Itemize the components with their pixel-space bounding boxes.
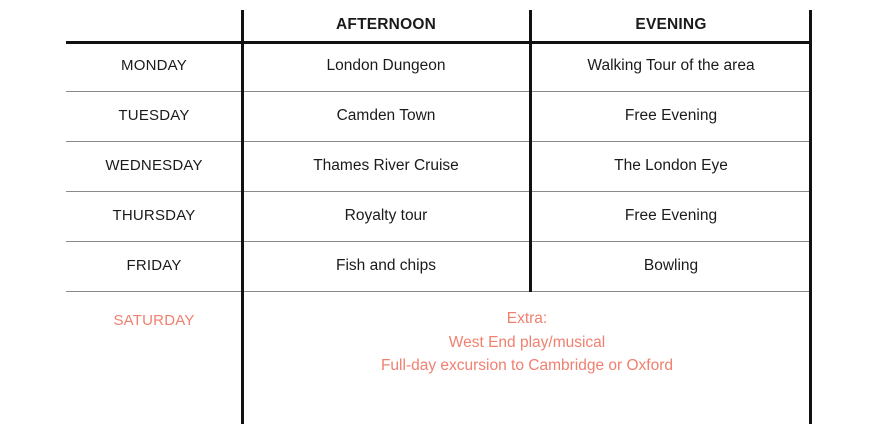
- cell-thursday-evening: Free Evening: [530, 191, 812, 241]
- cell-saturday-extras: Extra: West End play/musical Full-day ex…: [242, 291, 812, 391]
- header-afternoon: AFTERNOON: [242, 10, 530, 41]
- cell-friday-afternoon: Fish and chips: [242, 241, 530, 291]
- cell-thursday-afternoon: Royalty tour: [242, 191, 530, 241]
- saturday-extras-line-3: Full-day excursion to Cambridge or Oxfor…: [381, 354, 673, 378]
- cell-monday-evening: Walking Tour of the area: [530, 41, 812, 91]
- saturday-extras-line-1: Extra:: [381, 307, 673, 331]
- cell-tuesday-afternoon: Camden Town: [242, 91, 530, 141]
- row-label-friday: FRIDAY: [66, 241, 242, 291]
- cell-tuesday-evening: Free Evening: [530, 91, 812, 141]
- saturday-extras-text: Extra: West End play/musical Full-day ex…: [381, 307, 673, 378]
- weekly-schedule-table: AFTERNOON EVENING MONDAY London Dungeon …: [66, 10, 812, 424]
- cell-wednesday-evening: The London Eye: [530, 141, 812, 191]
- cell-wednesday-afternoon: Thames River Cruise: [242, 141, 530, 191]
- header-evening: EVENING: [530, 10, 812, 41]
- row-label-tuesday: TUESDAY: [66, 91, 242, 141]
- row-label-thursday: THURSDAY: [66, 191, 242, 241]
- schedule-table-canvas: AFTERNOON EVENING MONDAY London Dungeon …: [0, 0, 877, 424]
- row-label-monday: MONDAY: [66, 41, 242, 91]
- row-label-saturday: SATURDAY: [66, 291, 242, 351]
- cell-friday-evening: Bowling: [530, 241, 812, 291]
- saturday-extras-line-2: West End play/musical: [381, 331, 673, 355]
- row-label-wednesday: WEDNESDAY: [66, 141, 242, 191]
- cell-monday-afternoon: London Dungeon: [242, 41, 530, 91]
